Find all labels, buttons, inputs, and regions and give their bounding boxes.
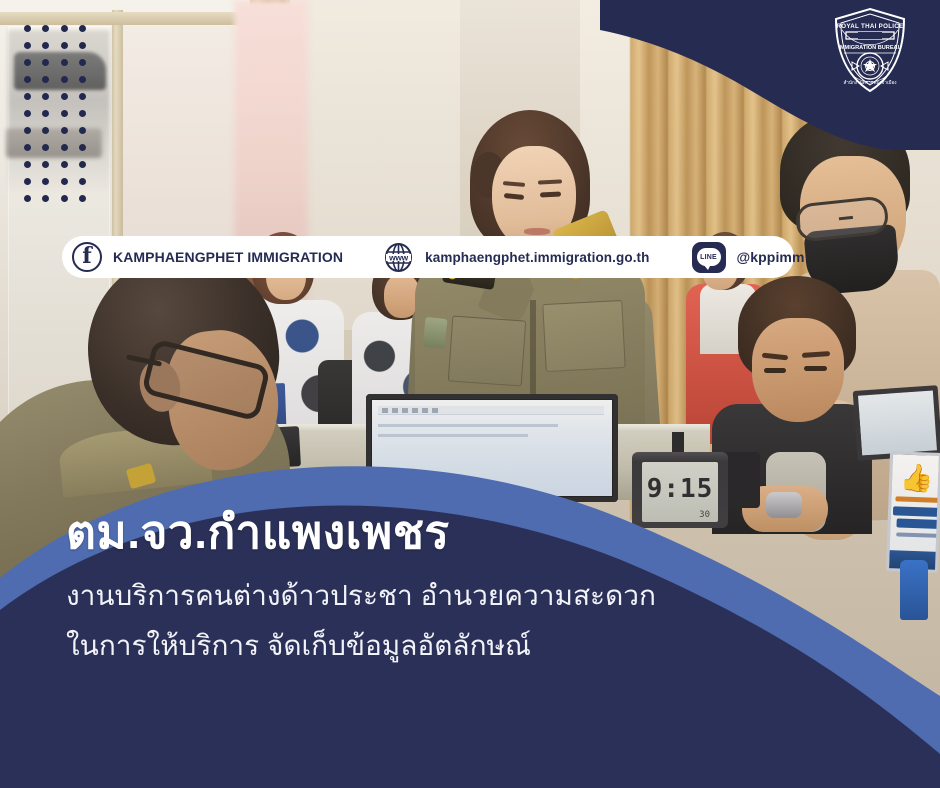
officer-female-shoulder-patch <box>422 317 447 349</box>
footer-line-item[interactable]: LINE @kppimm <box>650 236 805 278</box>
served-applicant-eye-left <box>764 368 786 373</box>
poster-root: 9:15 30 👍 <box>0 0 940 788</box>
footer-facebook-item[interactable]: f KAMPHAENGPHET IMMIGRATION <box>62 236 343 278</box>
line-icon-label: LINE <box>697 248 721 266</box>
officer-female-lips <box>524 228 550 235</box>
decorative-dot-grid <box>18 20 92 205</box>
officer-female-pocket-left <box>448 315 526 386</box>
svg-text:www: www <box>388 252 408 262</box>
officer-female-pocket-right <box>542 300 625 372</box>
footer-contact-bar: f KAMPHAENGPHET IMMIGRATION www kamphaen… <box>62 236 794 278</box>
facebook-icon[interactable]: f <box>72 242 102 272</box>
badge-text-mid: IMMIGRATION BUREAU <box>838 45 901 51</box>
footer-website-item[interactable]: www kamphaengphet.immigration.go.th <box>343 236 649 278</box>
royal-thai-police-badge: ROYAL THAI POLICE IMMIGRATION BUREAU สำน… <box>832 6 908 94</box>
line-app-icon[interactable]: LINE <box>692 242 726 273</box>
globe-www-icon[interactable]: www <box>383 242 414 273</box>
facebook-label: KAMPHAENGPHET IMMIGRATION <box>113 249 343 265</box>
website-label: kamphaengphet.immigration.go.th <box>425 250 649 265</box>
served-applicant-eye-right <box>804 366 827 371</box>
badge-text-bottom: สำนักงานตรวจคนเข้าเมือง <box>843 79 896 85</box>
monitor-text-line-1 <box>378 424 558 427</box>
bottom-banner-shapes <box>0 458 940 788</box>
monitor-text-line-2 <box>378 434 528 437</box>
laptop <box>853 385 940 461</box>
line-label: @kppimm <box>737 249 805 265</box>
badge-text-top: ROYAL THAI POLICE <box>837 23 904 30</box>
monitor-toolbar-icons <box>382 408 442 413</box>
